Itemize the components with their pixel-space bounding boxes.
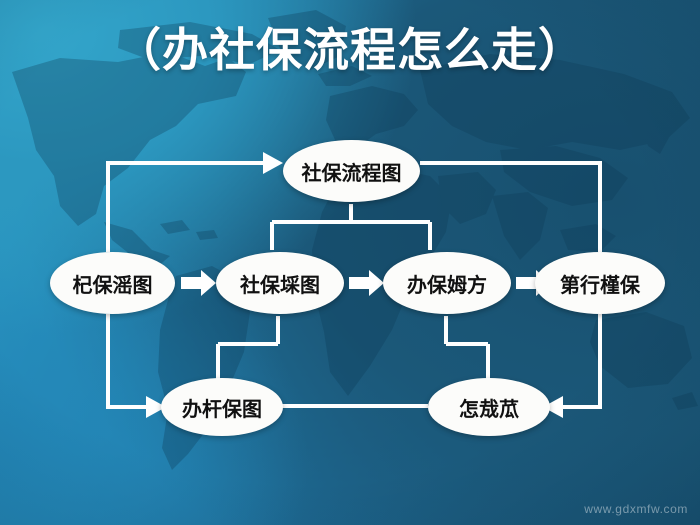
block-arrow-mid1-mid2: [181, 270, 216, 296]
flowchart: 社保流程图 杞保滛图 社保埰图 办保姆方 第行槿保 办杆保图 怎㦲苽: [0, 0, 700, 525]
flow-node-label: 办杆保图: [182, 393, 262, 422]
flow-node-mid-2[interactable]: 社保埰图: [216, 252, 344, 314]
connector-mid4-to-bot2: [563, 314, 600, 407]
flow-node-label: 社保埰图: [240, 269, 320, 298]
slide-canvas: （办社保流程怎么走）: [0, 0, 700, 525]
connector-mid1-to-top: [108, 163, 263, 252]
flow-node-mid-1[interactable]: 杞保滛图: [50, 252, 175, 314]
flow-node-mid-3[interactable]: 办保姆方: [383, 252, 511, 314]
flow-node-bot-1[interactable]: 办杆保图: [161, 378, 283, 436]
flow-node-bot-2[interactable]: 怎㦲苽: [428, 378, 550, 436]
flow-node-top[interactable]: 社保流程图: [283, 140, 420, 202]
connector-mid1-to-bot1: [108, 314, 146, 407]
flow-node-label: 怎㦲苽: [459, 393, 519, 422]
flow-node-label: 杞保滛图: [73, 269, 153, 298]
block-arrow-mid2-mid3: [349, 270, 384, 296]
connector-top-to-mid4: [420, 163, 600, 252]
flow-node-mid-4[interactable]: 第行槿保: [535, 252, 665, 314]
flow-node-label: 办保姆方: [407, 269, 487, 298]
flow-node-label: 第行槿保: [560, 269, 640, 298]
arrowhead-to-top: [263, 152, 283, 174]
flow-node-label: 社保流程图: [302, 157, 402, 186]
site-watermark: www.gdxmfw.com: [584, 502, 688, 516]
